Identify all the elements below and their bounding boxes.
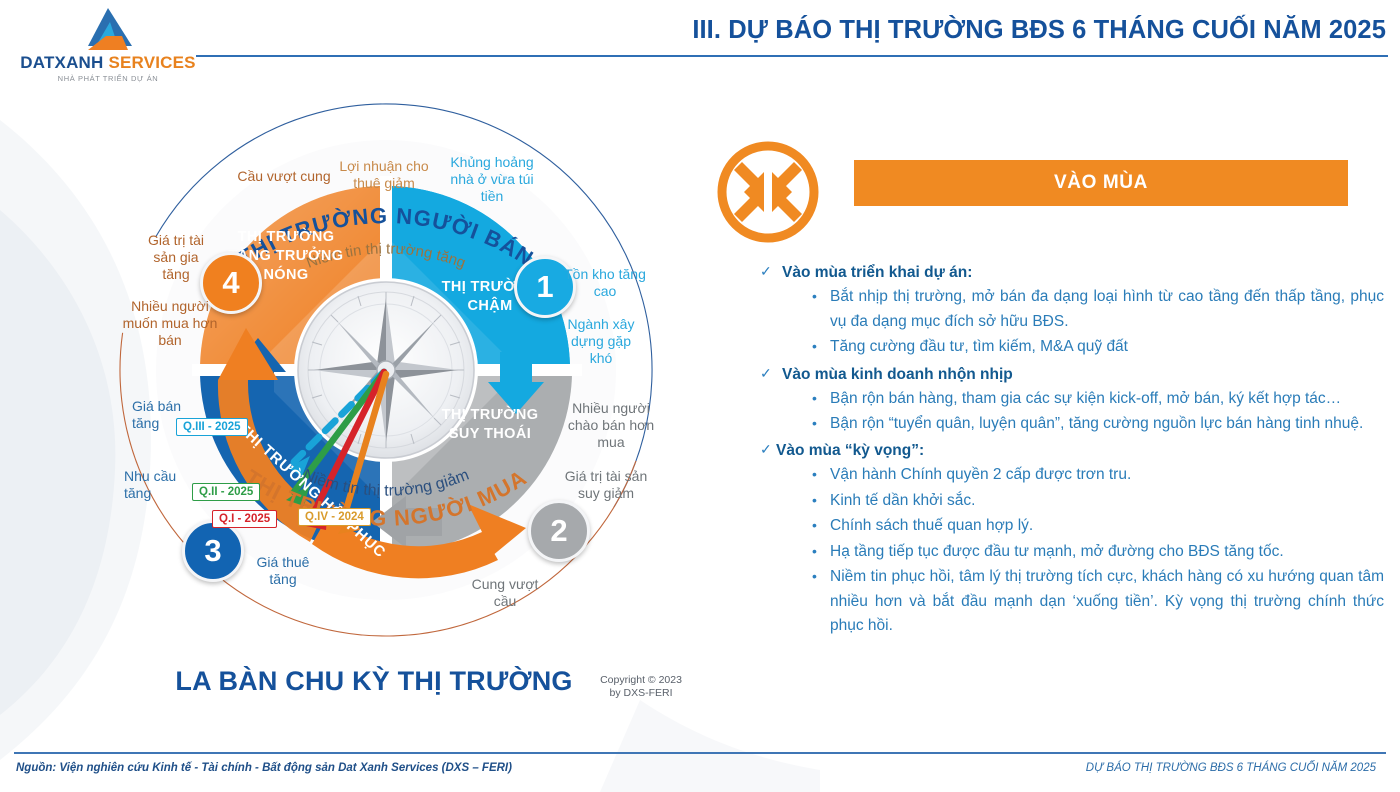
market-cycle-compass: THỊ TRƯỜNG NGƯỜI BÁN Niềm tin thị trường… [96, 80, 716, 760]
quarter-tag-q4-2024: Q.IV - 2024 [298, 508, 371, 526]
outer-label-khung-hoang: Khủng hoảng nhà ở vừa túi tiền [444, 154, 540, 204]
bullet-text: Vận hành Chính quyền 2 cấp được trơn tru… [830, 463, 1384, 487]
bullet-dot-icon: • [812, 335, 830, 357]
quarter-tag-q2-2025: Q.II - 2025 [192, 483, 260, 501]
bullet-dot-icon: • [812, 540, 830, 562]
bullet-text: Kinh tế dần khởi sắc. [830, 489, 1384, 513]
compass-caption: LA BÀN CHU KỲ THỊ TRƯỜNG [144, 666, 604, 697]
brand-word-secondary: SERVICES [108, 53, 195, 72]
bullet-level2: • Niềm tin phục hồi, tâm lý thị trường t… [812, 565, 1384, 638]
compress-arrows-icon [712, 136, 824, 248]
slide-root: DATXANH SERVICES NHÀ PHÁT TRIỂN DỰ ÁN II… [0, 0, 1400, 792]
bullet-level2: • Chính sách thuế quan hợp lý. [812, 514, 1384, 538]
bullet-level2: • Tăng cường đầu tư, tìm kiếm, M&A quỹ đ… [812, 335, 1384, 359]
bullet-text: Chính sách thuế quan hợp lý. [830, 514, 1384, 538]
outer-label-gia-tri-gia-tang: Giá trị tài sản gia tăng [138, 232, 214, 282]
bullet-text: Vào mùa kinh doanh nhộn nhịp [782, 363, 1013, 386]
bullet-list: ✓ Vào mùa triển khai dự án: • Bắt nhịp t… [760, 258, 1384, 639]
bullet-level1: ✓ Vào mùa “kỳ vọng”: [760, 439, 1384, 462]
quarter-tag-q3-2025: Q.III - 2025 [176, 418, 248, 436]
quadrant-badge-2: 2 [528, 500, 590, 562]
bullet-text: Niềm tin phục hồi, tâm lý thị trường tíc… [830, 565, 1384, 638]
copyright-line-1: Copyright © 2023 [566, 674, 716, 687]
outer-label-ton-kho: Tồn kho tăng cao [560, 266, 650, 300]
quadrant-badge-3: 3 [182, 520, 244, 582]
bullet-text: Vào mùa “kỳ vọng”: [776, 439, 924, 462]
bullet-dot-icon: • [812, 387, 830, 409]
page-title: III. DỰ BÁO THỊ TRƯỜNG BĐS 6 THÁNG CUỐI … [692, 16, 1386, 45]
bullet-text: Hạ tầng tiếp tục được đầu tư mạnh, mở đư… [830, 540, 1384, 564]
outer-label-loi-nhuan: Lợi nhuận cho thuê giảm [332, 158, 436, 192]
outer-label-gia-thue-tang: Giá thuê tăng [244, 554, 322, 588]
bullet-dot-icon: • [812, 489, 830, 511]
bullet-dot-icon: • [812, 285, 830, 307]
copyright-line-2: by DXS-FERI [566, 687, 716, 700]
outer-label-nganh-xay-dung: Ngành xây dựng gặp khó [560, 316, 642, 366]
outer-label-nhieu-nguoi-chao-ban: Nhiều người chào bán hơn mua [564, 400, 658, 450]
check-icon: ✓ [760, 363, 782, 384]
bullet-level2: • Kinh tế dần khởi sắc. [812, 489, 1384, 513]
slide-header: DATXANH SERVICES NHÀ PHÁT TRIỂN DỰ ÁN II… [0, 0, 1400, 78]
bullet-level2: • Bận rộn “tuyển quân, luyện quân”, tăng… [812, 412, 1384, 436]
footer-source: Nguồn: Viện nghiên cứu Kinh tế - Tài chí… [16, 762, 512, 774]
bullet-dot-icon: • [812, 565, 830, 587]
season-banner-label: VÀO MÙA [1054, 172, 1148, 194]
season-banner: VÀO MÙA [854, 160, 1348, 206]
bullet-level2: • Hạ tầng tiếp tục được đầu tư mạnh, mở … [812, 540, 1384, 564]
header-divider [196, 55, 1388, 57]
check-icon: ✓ [760, 439, 776, 460]
footer-divider [14, 752, 1386, 754]
bullet-dot-icon: • [812, 514, 830, 536]
quarter-tag-q1-2025: Q.I - 2025 [212, 510, 277, 528]
bullet-level1: ✓ Vào mùa triển khai dự án: [760, 261, 1384, 284]
brand-logo: DATXANH SERVICES NHÀ PHÁT TRIỂN DỰ ÁN [18, 6, 198, 83]
outer-label-cung-vuot-cau: Cung vượt cầu [460, 576, 550, 610]
bullet-level2: • Bắt nhịp thị trường, mở bán đa dạng lo… [812, 285, 1384, 334]
bullet-text: Vào mùa triển khai dự án: [782, 261, 972, 284]
bullet-level2: • Bận rộn bán hàng, tham gia các sự kiện… [812, 387, 1384, 411]
bullet-text: Tăng cường đầu tư, tìm kiếm, M&A quỹ đất [830, 335, 1384, 359]
check-icon: ✓ [760, 261, 782, 282]
bullet-text: Bận rộn “tuyển quân, luyện quân”, tăng c… [830, 412, 1384, 436]
copyright-note: Copyright © 2023 by DXS-FERI [566, 674, 716, 700]
outer-label-nhieu-nguoi-muon-mua: Nhiều người muốn mua hơn bán [122, 298, 218, 348]
footer-title: DỰ BÁO THỊ TRƯỜNG BĐS 6 THÁNG CUỐI NĂM 2… [1086, 762, 1376, 774]
bullet-text: Bận rộn bán hàng, tham gia các sự kiện k… [830, 387, 1384, 411]
outer-label-gia-tri-suy-giam: Giá trị tài sản suy giảm [554, 468, 658, 502]
outer-label-nhu-cau-tang: Nhu cầu tăng [124, 468, 200, 502]
bullet-dot-icon: • [812, 412, 830, 434]
quadrant-title-2: THỊ TRƯỜNG SUY THOÁI [432, 406, 548, 444]
bullet-level2: • Vận hành Chính quyền 2 cấp được trơn t… [812, 463, 1384, 487]
outer-label-cau-vuot-cung: Cầu vượt cung [236, 168, 332, 185]
brand-wordmark: DATXANH SERVICES [18, 54, 198, 71]
bullet-text: Bắt nhịp thị trường, mở bán đa dạng loại… [830, 285, 1384, 334]
bullet-level1: ✓ Vào mùa kinh doanh nhộn nhịp [760, 363, 1384, 386]
datxanh-logo-icon [66, 6, 150, 52]
bullet-dot-icon: • [812, 463, 830, 485]
brand-word-primary: DATXANH [20, 53, 103, 72]
